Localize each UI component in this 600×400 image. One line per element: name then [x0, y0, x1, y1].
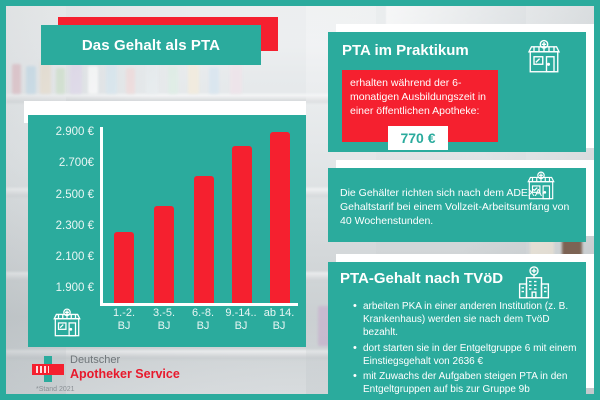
infographic-frame: Das Gehalt als PTA 2.900 € 2.700€ 2.500 … [0, 0, 600, 400]
chart-x-axis: 1.-2. BJ 3.-5. BJ 6.-8. BJ 9.-14.. BJ ab… [102, 307, 298, 343]
page-title-text: Das Gehalt als PTA [82, 37, 220, 54]
pharmacy-shop-icon [50, 307, 84, 341]
salary-bar-chart: 2.900 € 2.700€ 2.500 € 2.300 € 2.100 € 1… [28, 115, 306, 347]
x-tick-line2: BJ [118, 320, 131, 332]
bar-3 [194, 176, 214, 303]
x-tick-label: ab 14. BJ [257, 307, 301, 333]
panel-tvoed: PTA-Gehalt nach TVöD arbeiten PKA in ein… [328, 262, 586, 400]
x-tick-line2: BJ [197, 320, 210, 332]
y-tick-label: 2.300 € [56, 220, 94, 232]
brand-name-line2: Apotheker Service [70, 367, 180, 381]
source-note: *Stand 2021 [36, 386, 75, 393]
tvoed-heading: PTA-Gehalt nach TVöD [340, 270, 503, 287]
bar-1 [114, 232, 134, 303]
brand-name-line1: Deutscher [70, 354, 120, 366]
bar-4 [232, 146, 252, 303]
chart-axis-horizontal [100, 303, 298, 306]
y-tick-label: 2.500 € [56, 189, 94, 201]
panel-tarif: Die Gehälter richten sich nach dem ADEXA… [328, 168, 586, 242]
x-tick-line1: 9.-14.. [225, 307, 256, 319]
bar-5 [270, 132, 290, 303]
y-tick-label: 2.700€ [59, 157, 94, 169]
y-tick-label: 2.100 € [56, 251, 94, 263]
y-tick-label: 2.900 € [56, 126, 94, 138]
bar-2 [154, 206, 174, 303]
x-tick-line2: BJ [158, 320, 171, 332]
tvoed-bullet: arbeiten PKA in einer anderen Institutio… [363, 300, 587, 340]
chart-plot-area [102, 127, 298, 303]
page-title: Das Gehalt als PTA [41, 25, 261, 65]
pharmacy-shop-icon [524, 38, 564, 78]
x-tick-label: 1.-2. BJ [102, 307, 146, 333]
x-tick-line1: ab 14. [264, 307, 295, 319]
hospital-icon [514, 264, 554, 304]
x-tick-line1: 3.-5. [153, 307, 175, 319]
panel-praktikum: PTA im Praktikum erhalten während der 6-… [328, 32, 586, 152]
x-tick-label: 3.-5. BJ [142, 307, 186, 333]
tarif-body: Die Gehälter richten sich nach dem ADEXA… [340, 186, 572, 228]
x-tick-line2: BJ [235, 320, 248, 332]
tvoed-bullet: mit Zuwachs der Aufgaben steigen PTA in … [363, 370, 587, 396]
x-tick-line1: 6.-8. [192, 307, 214, 319]
tvoed-bullet: dort starten sie in der Entgeltgruppe 6 … [363, 342, 587, 368]
tvoed-bullet-list: arbeiten PKA in einer anderen Institutio… [350, 300, 587, 398]
pharmacy-cross-icon [32, 356, 64, 382]
x-tick-line2: BJ [273, 320, 286, 332]
praktikum-value: 770 € [388, 126, 448, 150]
x-tick-line1: 1.-2. [113, 307, 135, 319]
chart-y-axis: 2.900 € 2.700€ 2.500 € 2.300 € 2.100 € 1… [38, 127, 94, 305]
praktikum-heading: PTA im Praktikum [342, 42, 469, 59]
cross-dots [36, 366, 49, 373]
y-tick-label: 1.900 € [56, 282, 94, 294]
